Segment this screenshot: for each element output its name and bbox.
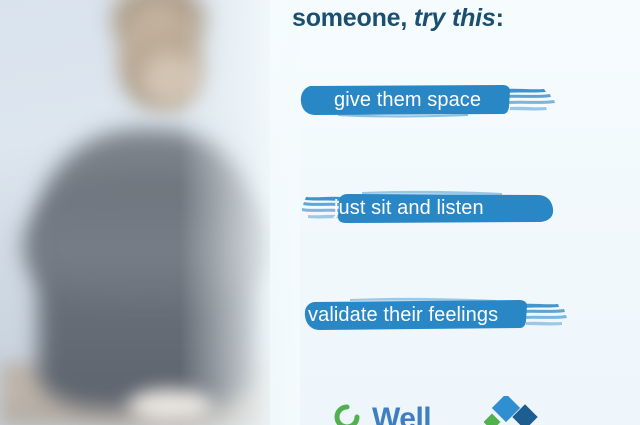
green-circle-icon [334, 404, 360, 425]
tip-item-1: give them space [298, 80, 560, 120]
heading-emphasis: try this [414, 4, 496, 32]
logo-wordmark: Well [372, 404, 431, 425]
slide-canvas: someone, try this: give them space just … [0, 0, 640, 425]
tip-label-3: validate their feelings [300, 295, 576, 335]
heading-colon: : [496, 4, 504, 32]
heading-text: someone, [292, 4, 407, 32]
tip-item-2: just sit and listen [302, 188, 560, 228]
page-title: someone, try this: [292, 2, 504, 34]
tip-item-3: validate their feelings [300, 295, 568, 335]
tip-label-2: just sit and listen [302, 188, 592, 228]
panel-left-fade [260, 0, 300, 425]
tip-label-1: give them space [298, 80, 596, 120]
diamond-cluster-icon [484, 396, 546, 425]
brand-logo: Well [334, 404, 549, 425]
